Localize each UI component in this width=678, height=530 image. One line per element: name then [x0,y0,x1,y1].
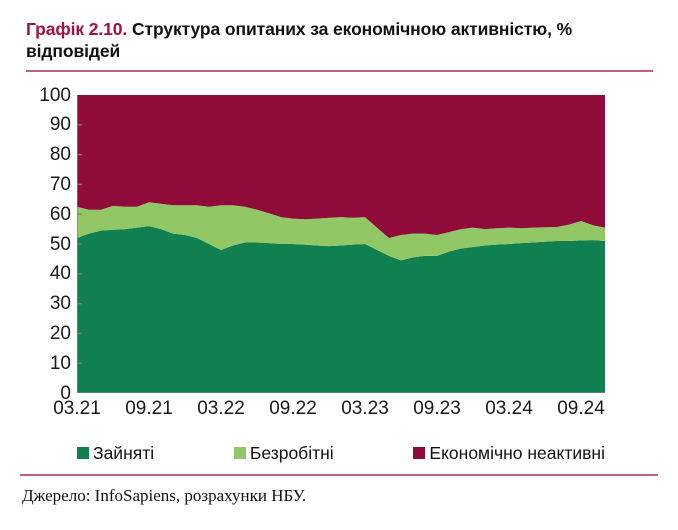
y-axis-tick-label: 60 [18,205,71,224]
plot-area [77,95,605,393]
chart-legend: ЗайнятіБезробітніЕкономічно неактивні [77,440,609,466]
x-axis-tick-label: 09.24 [536,398,626,420]
y-axis-tick-label: 80 [18,145,71,164]
source-divider [20,474,658,476]
y-axis-tick-label: 20 [18,324,71,343]
legend-item-label: Економічно неактивні [429,443,605,463]
legend-item-label: Зайняті [93,443,154,463]
square-marker-icon [234,447,246,459]
square-marker-icon [413,447,425,459]
x-axis-labels: 03.2109.2103.2209.2203.2309.2303.2409.24 [77,398,605,422]
legend-item[interactable]: Економічно неактивні [413,443,605,463]
source-note: Джерело: InfoSapiens, розрахунки НБУ. [22,485,306,506]
legend-item-label: Безробітні [250,443,334,463]
square-marker-icon [77,447,89,459]
legend-item[interactable]: Зайняті [77,443,154,463]
area-series-Зайняті [77,226,605,393]
y-axis-tick-label: 40 [18,264,71,283]
y-axis-tick-label: 10 [18,354,71,373]
y-axis-tick-label: 50 [18,235,71,254]
y-axis-tick-label: 30 [18,294,71,313]
y-axis-tick-label: 100 [18,86,71,105]
page-title: Графік 2.10. Структура опитаних за еконо… [26,18,654,62]
title-divider [26,70,653,72]
y-axis-tick-label: 90 [18,115,71,134]
y-axis-labels: 0102030405060708090100 [18,95,71,393]
y-axis-tick-label: 70 [18,175,71,194]
title-prefix: Графік 2.10. [26,19,127,39]
stacked-area-chart [77,95,605,393]
legend-item[interactable]: Безробітні [234,443,334,463]
chart-figure: Графік 2.10. Структура опитаних за еконо… [0,0,678,530]
